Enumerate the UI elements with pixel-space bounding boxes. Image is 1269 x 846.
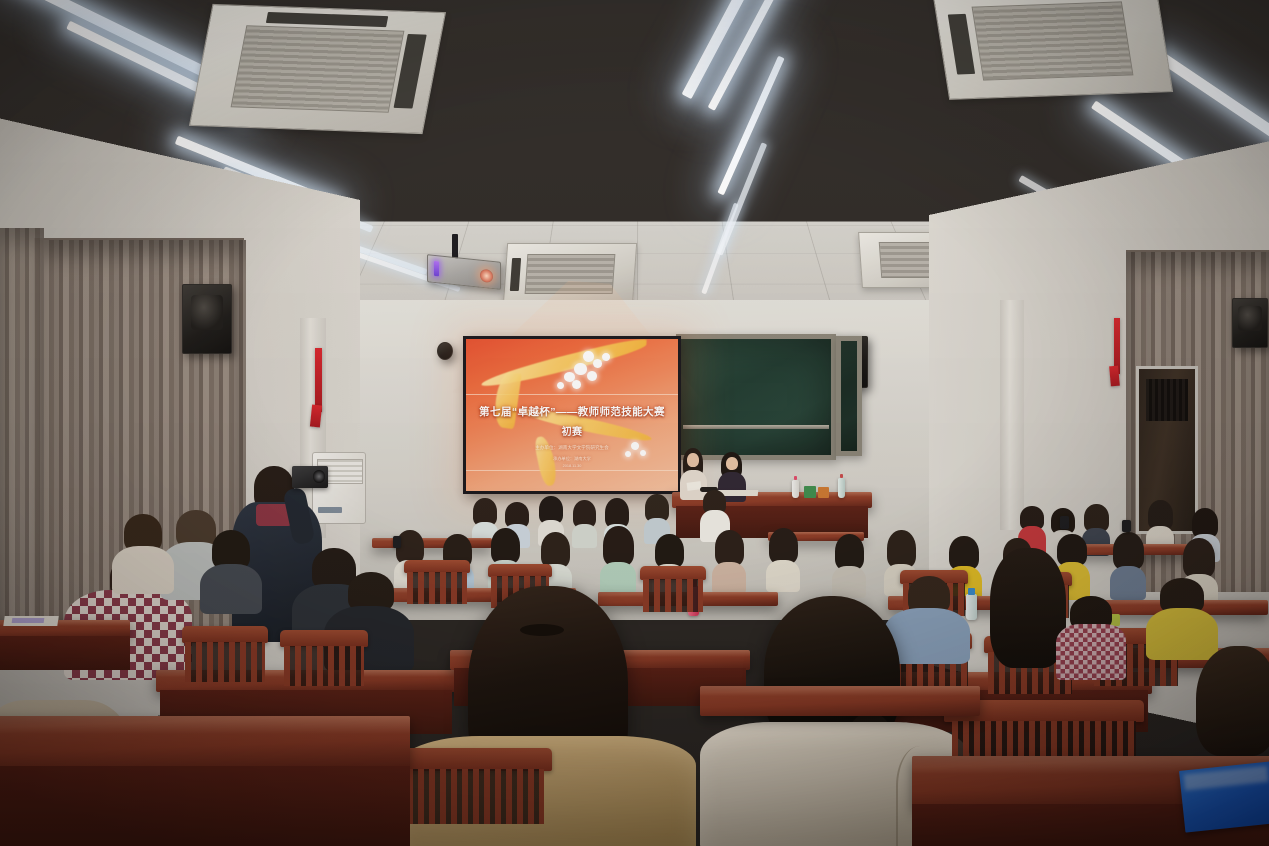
ceiling-ac-cassette-center <box>503 243 637 305</box>
blue-folder[interactable] <box>1179 761 1269 832</box>
water-bottle-pink <box>792 480 799 498</box>
hair <box>603 526 634 566</box>
blossom-petal <box>572 380 581 389</box>
chair-backrest <box>488 564 552 577</box>
hair <box>835 534 864 570</box>
audience-member <box>200 530 262 610</box>
audience-member <box>766 528 800 590</box>
left-desk-front <box>0 636 130 670</box>
audience-member-mint-top <box>600 526 636 592</box>
ac-grille <box>971 2 1133 81</box>
green-cup <box>804 486 816 498</box>
projection-screen-frame: 第七届“卓越杯”——教师师范技能大赛 初赛 主办单位：湖南大学文学院研究生会 承… <box>463 336 681 494</box>
audience-chair[interactable] <box>280 630 368 686</box>
screen-date-line: 2018.11.30 <box>466 464 678 468</box>
hair <box>491 528 520 564</box>
screen-venue-line: 承办单位：湖南大学 <box>466 456 678 462</box>
audience-member-yellow-right <box>1146 578 1218 656</box>
screen-band-bottom <box>466 470 678 472</box>
audience-chair[interactable] <box>182 626 268 682</box>
audience-member <box>572 500 597 546</box>
hair-ponytail-band <box>520 624 564 636</box>
hair <box>715 530 744 566</box>
hair <box>1196 646 1269 756</box>
audience-member <box>1110 532 1146 598</box>
wall-pillar-right <box>1000 300 1024 530</box>
hair <box>769 528 798 564</box>
torso <box>1110 566 1146 600</box>
chair-slats <box>185 642 264 682</box>
back-row-desk <box>372 538 492 548</box>
projector-lens <box>480 268 493 282</box>
door-window <box>1146 379 1189 421</box>
chair-backrest <box>640 566 706 580</box>
ac-vent-slot <box>948 14 975 75</box>
blossom-petal <box>593 359 602 368</box>
blossom-petal <box>587 371 597 381</box>
ac-grille <box>525 254 615 295</box>
presenter-face <box>687 453 699 467</box>
torso <box>112 546 174 594</box>
bottle-cap <box>794 476 798 480</box>
smartphone-held-up[interactable] <box>393 536 401 548</box>
loudspeaker-left <box>182 284 232 354</box>
blossom-petal <box>602 353 610 361</box>
bottle-cap <box>840 474 844 479</box>
speaker-cone <box>191 295 224 330</box>
classroom-photograph: 第七届“卓越杯”——教师师范技能大赛 初赛 主办单位：湖南大学文学院研究生会 承… <box>0 0 1269 846</box>
loudspeaker-far-right <box>1232 298 1268 348</box>
audience-member-cream-top <box>112 514 174 590</box>
hair <box>541 532 570 568</box>
smartphone-held-up[interactable] <box>1122 520 1131 532</box>
patterned-top <box>1056 624 1126 680</box>
speaker-cone <box>1238 306 1261 331</box>
smartphone-held-up[interactable] <box>1060 516 1069 529</box>
torso <box>832 566 866 598</box>
chair-backrest <box>182 626 268 643</box>
screen-main-title: 第七届“卓越杯”——教师师范技能大赛 <box>466 404 678 419</box>
water-bottle-clear <box>838 478 845 498</box>
hair <box>655 534 684 568</box>
blossom-petal <box>574 363 587 375</box>
torso <box>200 564 262 614</box>
hair <box>887 530 916 568</box>
orange-box <box>818 487 829 498</box>
screen-subtitle: 初赛 <box>466 423 678 438</box>
torso <box>712 562 746 594</box>
foreground-desk-left <box>0 716 410 770</box>
wall-speaker-small <box>437 342 453 360</box>
compact-camera[interactable] <box>292 466 328 488</box>
blossom-petal <box>583 351 594 362</box>
torso <box>766 560 800 592</box>
papers-on-left-desk-accent <box>12 618 45 623</box>
chair-backrest <box>280 630 368 647</box>
hair <box>949 536 979 570</box>
ac-grille <box>231 25 404 112</box>
mid-foreground-desk <box>700 686 980 716</box>
audience-member <box>712 530 746 592</box>
screen-organizer-line: 主办单位：湖南大学文学院研究生会 <box>466 445 678 451</box>
blossom-petal <box>557 382 564 389</box>
ceiling-ac-cassette-right <box>932 0 1173 100</box>
long-hair <box>990 548 1066 668</box>
audience-member-pink-patterned <box>1056 596 1126 676</box>
green-chalkboard <box>676 334 836 460</box>
ceiling-ac-cassette-left <box>189 4 446 134</box>
ac-vent-slot <box>510 258 521 290</box>
torso <box>572 524 597 548</box>
red-ribbon-left <box>315 348 322 412</box>
hair <box>1183 538 1215 578</box>
ceiling-light-8 <box>708 0 795 111</box>
curtain-left-outer <box>0 228 44 648</box>
red-ribbon-right-tail <box>1109 366 1120 387</box>
ac-vent-slot <box>266 12 388 27</box>
foreground-desk-left-front <box>0 766 410 846</box>
green-chalkboard-right-panel <box>836 336 862 456</box>
audience-member <box>832 534 866 596</box>
presenter-face <box>726 457 738 470</box>
projector-led-indicator <box>434 261 439 276</box>
chair-slats <box>284 646 365 686</box>
hair <box>1113 532 1144 570</box>
chalk-tray <box>683 425 829 429</box>
projection-screen: 第七届“卓越杯”——教师师范技能大赛 初赛 主办单位：湖南大学文学院研究生会 承… <box>466 339 678 491</box>
